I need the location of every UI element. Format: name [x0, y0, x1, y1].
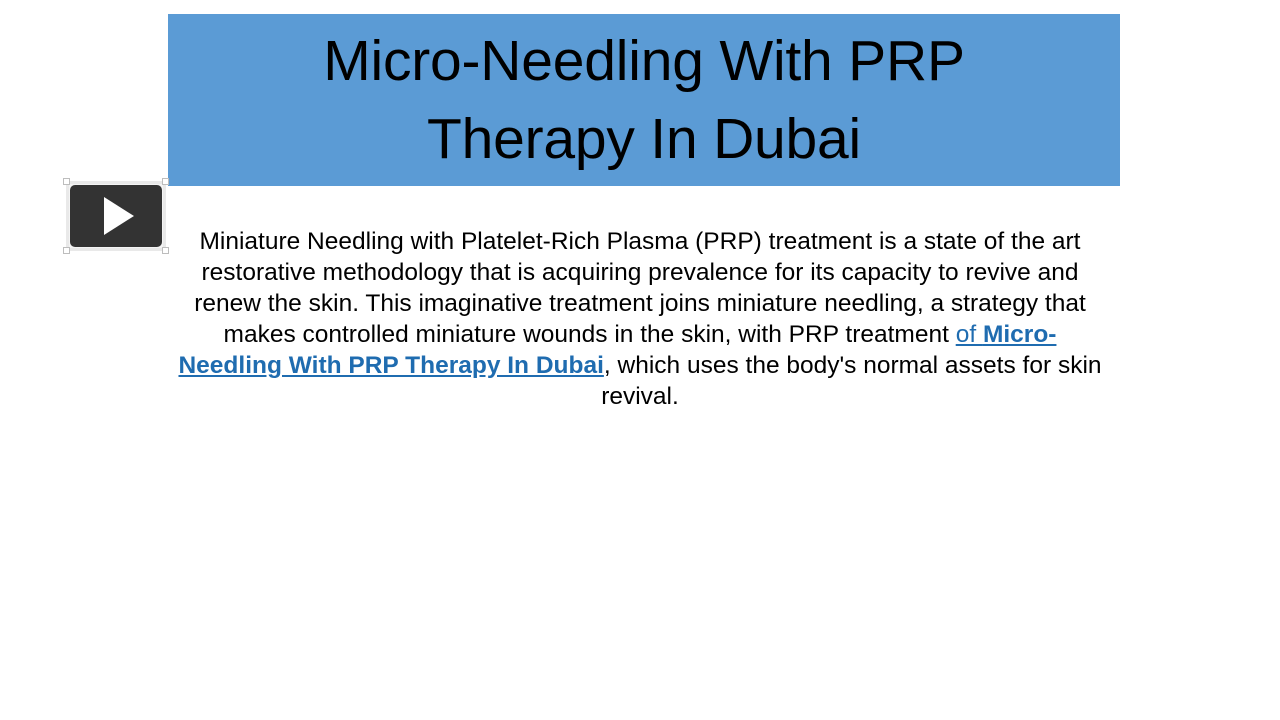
slide-title-banner: Micro-Needling With PRP Therapy In Dubai	[168, 14, 1120, 186]
resize-handle-top-right[interactable]	[162, 178, 169, 185]
body-paragraph: Miniature Needling with Platelet-Rich Pl…	[172, 226, 1108, 412]
resize-handle-bottom-right[interactable]	[162, 247, 169, 254]
slide-body-block: Miniature Needling with Platelet-Rich Pl…	[172, 226, 1108, 412]
resize-handle-top-left[interactable]	[63, 178, 70, 185]
play-icon	[104, 197, 134, 235]
presentation-slide: Micro-Needling With PRP Therapy In Dubai…	[0, 0, 1280, 720]
body-hyperlink-prefix[interactable]: of	[956, 321, 983, 348]
media-thumbnail[interactable]	[70, 185, 162, 247]
body-text-segment-1: Miniature Needling with Platelet-Rich Pl…	[194, 228, 1086, 348]
body-text-segment-2: , which uses the body's normal assets fo…	[601, 352, 1101, 410]
page-title: Micro-Needling With PRP Therapy In Dubai	[168, 22, 1120, 178]
media-play-button[interactable]	[66, 181, 166, 251]
resize-handle-bottom-left[interactable]	[63, 247, 70, 254]
